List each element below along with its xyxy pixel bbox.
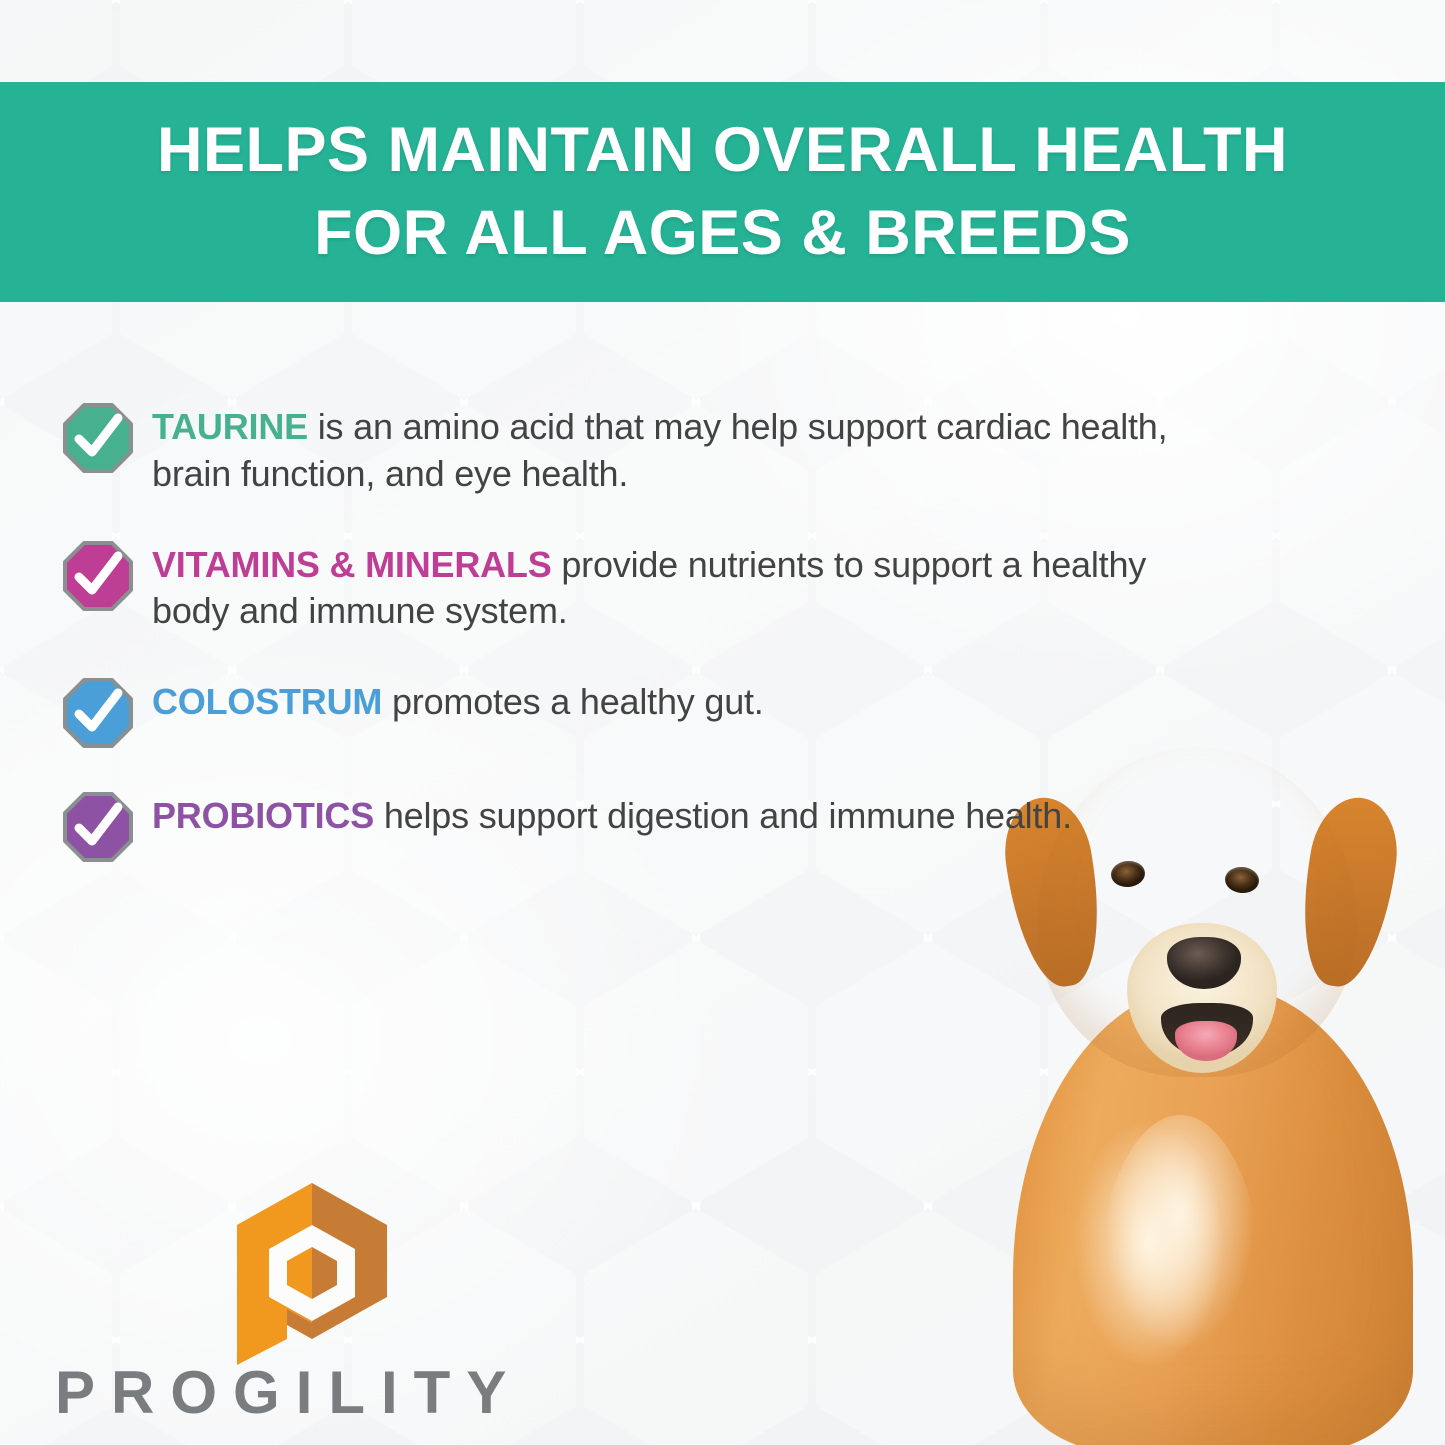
benefits-list: TAURINE is an amino acid that may help s…	[62, 398, 1222, 901]
check-octagon-icon	[62, 402, 134, 474]
benefit-item-colostrum: COLOSTRUM promotes a healthy gut.	[62, 673, 1222, 749]
benefit-keyword: VITAMINS & MINERALS	[152, 544, 552, 585]
headline-line-1: HELPS MAINTAIN OVERALL HEALTH	[157, 109, 1288, 192]
check-octagon-icon	[62, 540, 134, 612]
logo-wordmark: PROGILITY	[55, 1363, 525, 1423]
headline-line-2: FOR ALL AGES & BREEDS	[314, 192, 1131, 275]
benefit-description: helps support digestion and immune healt…	[374, 795, 1072, 836]
benefit-item-taurine: TAURINE is an amino acid that may help s…	[62, 398, 1222, 498]
benefit-text: VITAMINS & MINERALS provide nutrients to…	[152, 536, 1222, 636]
benefit-text: TAURINE is an amino acid that may help s…	[152, 398, 1222, 498]
benefit-keyword: TAURINE	[152, 406, 308, 447]
brand-logo: PROGILITY	[55, 1179, 525, 1423]
benefit-text: COLOSTRUM promotes a healthy gut.	[152, 673, 764, 726]
benefit-item-probiotics: PROBIOTICS helps support digestion and i…	[62, 787, 1222, 863]
benefit-text: PROBIOTICS helps support digestion and i…	[152, 787, 1072, 840]
benefit-keyword: PROBIOTICS	[152, 795, 374, 836]
progility-hexagon-p-icon	[227, 1179, 397, 1369]
check-octagon-icon	[62, 791, 134, 863]
headline-banner: HELPS MAINTAIN OVERALL HEALTH FOR ALL AG…	[0, 82, 1445, 302]
benefit-item-vitamins-minerals: VITAMINS & MINERALS provide nutrients to…	[62, 536, 1222, 636]
benefit-keyword: COLOSTRUM	[152, 681, 382, 722]
check-octagon-icon	[62, 677, 134, 749]
benefit-description: promotes a healthy gut.	[382, 681, 763, 722]
